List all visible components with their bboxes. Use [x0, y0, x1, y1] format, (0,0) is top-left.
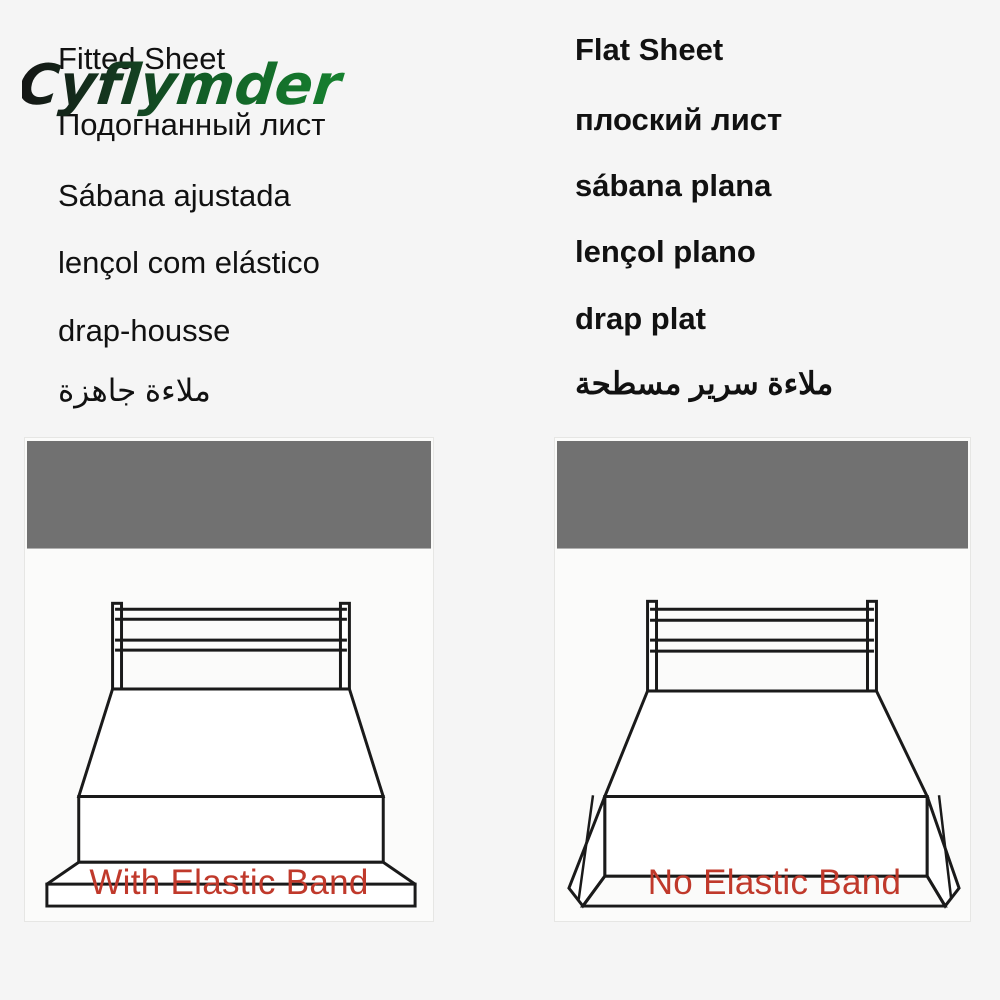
term-flat-sheet-ru: плоский лист — [575, 104, 782, 135]
flat-sheet-top-surface — [605, 691, 927, 797]
term-fitted-sheet-es: Sábana ajustada — [58, 180, 291, 211]
page-root: Fitted Sheet Подогнанный лист Sábana aju… — [0, 0, 1000, 1000]
term-flat-sheet-ar: ملاءة سرير مسطحة — [575, 368, 833, 399]
term-fitted-sheet-pt: lençol com elástico — [58, 247, 320, 278]
term-fitted-sheet-en: Fitted Sheet — [58, 43, 225, 74]
mattress-front-face — [79, 797, 384, 863]
term-flat-sheet-es: sábana plana — [575, 170, 771, 201]
term-flat-sheet-en: Flat Sheet — [575, 34, 723, 65]
fitted-sheet-caption: With Elastic Band — [25, 863, 433, 903]
term-fitted-sheet-fr: drap-housse — [58, 315, 230, 346]
term-fitted-sheet-ru: Подогнанный лист — [58, 109, 325, 140]
bed-with-fitted-sheet-illustration — [25, 438, 433, 921]
headboard-post-right — [867, 601, 876, 691]
panel-header-bar — [557, 441, 968, 549]
term-fitted-sheet-ar: ملاءة جاهزة — [58, 375, 211, 406]
terminology-section: Fitted Sheet Подогнанный лист Sábana aju… — [0, 0, 1000, 430]
flat-sheet-panel: No Elastic Band — [554, 437, 971, 922]
term-flat-sheet-fr: drap plat — [575, 303, 706, 334]
term-flat-sheet-pt: lençol plano — [575, 236, 756, 267]
fitted-sheet-top-surface — [79, 689, 384, 797]
flat-sheet-caption: No Elastic Band — [555, 863, 971, 903]
headboard-post-left — [648, 601, 657, 691]
headboard-post-right — [340, 603, 349, 689]
fitted-sheet-panel: With Elastic Band — [24, 437, 434, 922]
panel-header-bar — [27, 441, 431, 549]
bed-with-flat-sheet-illustration — [555, 438, 970, 921]
headboard-post-left — [113, 603, 122, 689]
